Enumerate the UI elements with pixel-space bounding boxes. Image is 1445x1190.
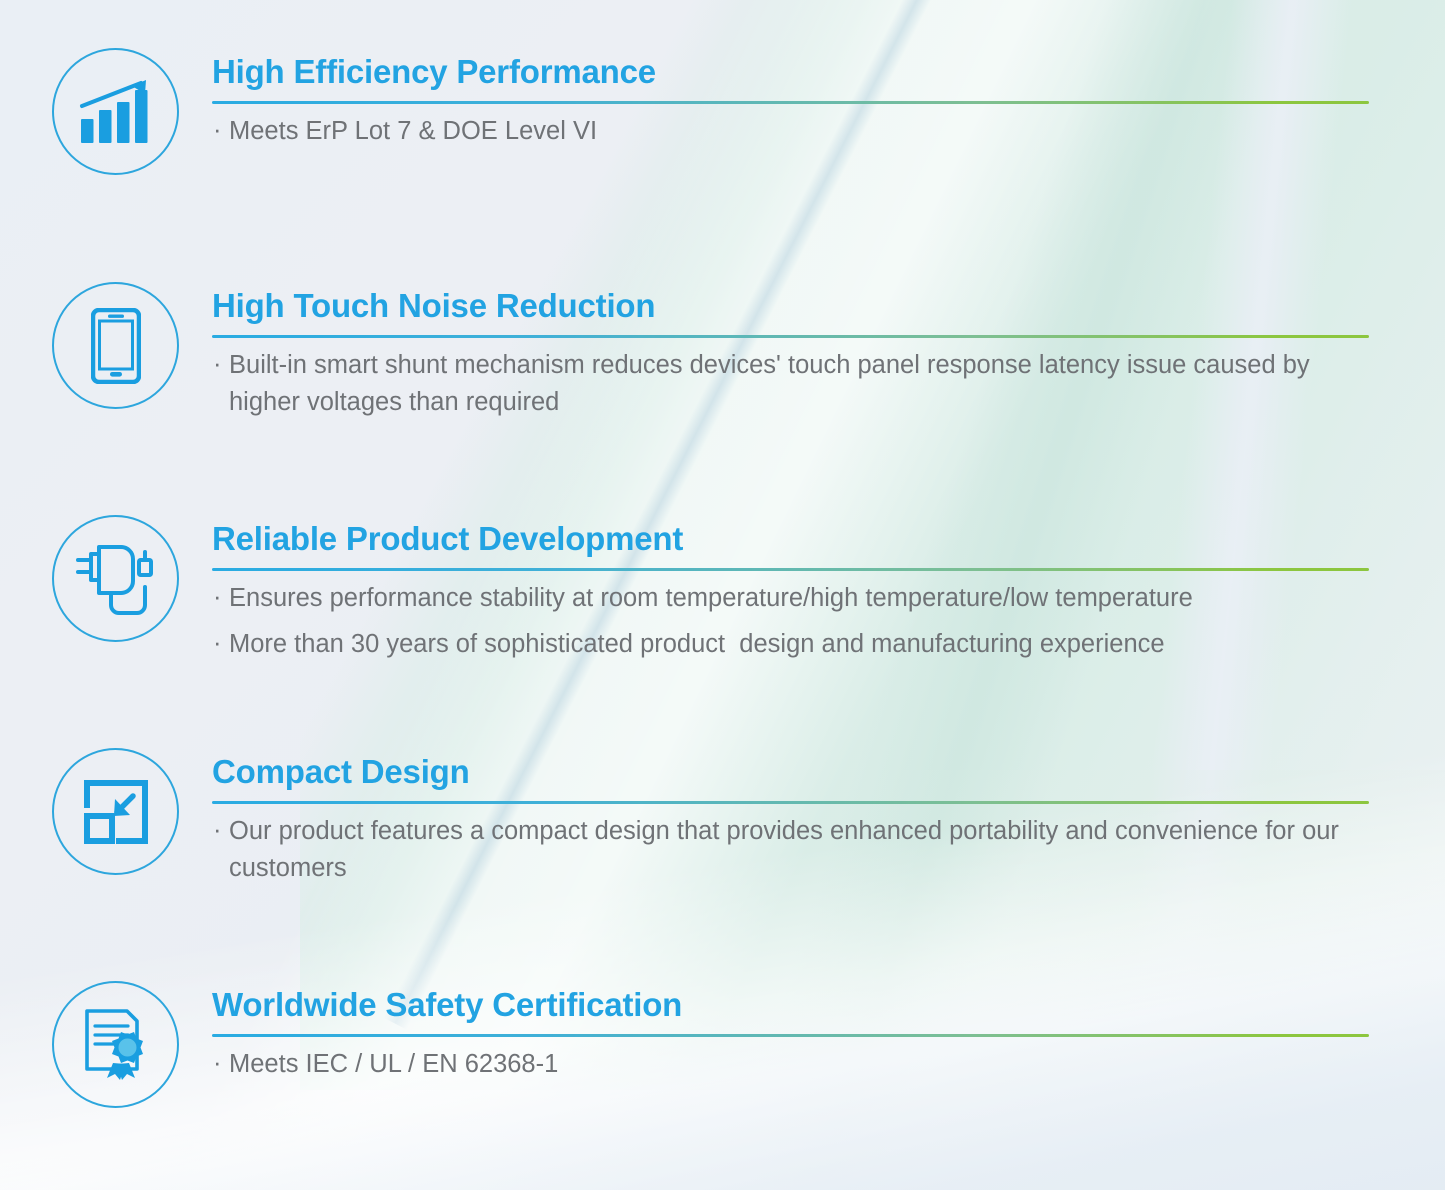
feature-item-high-efficiency-performance: High Efficiency Performance Meets ErP Lo… [52,48,1369,175]
feature-body: High Touch Noise Reduction Built-in smar… [212,282,1369,422]
feature-bullet: Meets IEC / UL / EN 62368-1 [212,1046,1369,1084]
feature-bullet: Ensures performance stability at room te… [212,580,1369,618]
smartphone-icon [52,282,179,409]
feature-bullets: Meets ErP Lot 7 & DOE Level VI [212,113,1369,151]
compact-resize-icon [52,748,179,875]
feature-item-high-touch-noise-reduction: High Touch Noise Reduction Built-in smar… [52,282,1369,422]
feature-divider [212,1034,1369,1037]
feature-divider [212,335,1369,338]
feature-bullets: Built-in smart shunt mechanism reduces d… [212,347,1369,422]
feature-list: High Efficiency Performance Meets ErP Lo… [0,0,1445,1190]
feature-bullet: Meets ErP Lot 7 & DOE Level VI [212,113,1369,151]
feature-bullets: Ensures performance stability at room te… [212,580,1369,664]
feature-divider [212,101,1369,104]
feature-title: Compact Design [212,754,1369,790]
feature-item-worldwide-safety-certification: Worldwide Safety Certification Meets IEC… [52,981,1369,1108]
feature-body: Worldwide Safety Certification Meets IEC… [212,981,1369,1083]
feature-bullet: More than 30 years of sophisticated prod… [212,626,1369,664]
feature-divider [212,568,1369,571]
feature-item-reliable-product-development: Reliable Product Development Ensures per… [52,515,1369,664]
feature-body: Reliable Product Development Ensures per… [212,515,1369,664]
certificate-seal-icon [52,981,179,1108]
feature-bullets: Meets IEC / UL / EN 62368-1 [212,1046,1369,1084]
feature-body: High Efficiency Performance Meets ErP Lo… [212,48,1369,150]
feature-title: Reliable Product Development [212,521,1369,557]
feature-bullets: Our product features a compact design th… [212,813,1369,888]
feature-divider [212,801,1369,804]
feature-highlights-page: High Efficiency Performance Meets ErP Lo… [0,0,1445,1190]
feature-title: High Touch Noise Reduction [212,288,1369,324]
power-adapter-icon [52,515,179,642]
bar-chart-growth-icon [52,48,179,175]
feature-bullet: Built-in smart shunt mechanism reduces d… [212,347,1369,422]
feature-title: High Efficiency Performance [212,54,1369,90]
feature-bullet: Our product features a compact design th… [212,813,1369,888]
feature-body: Compact Design Our product features a co… [212,748,1369,888]
feature-item-compact-design: Compact Design Our product features a co… [52,748,1369,888]
feature-title: Worldwide Safety Certification [212,987,1369,1023]
